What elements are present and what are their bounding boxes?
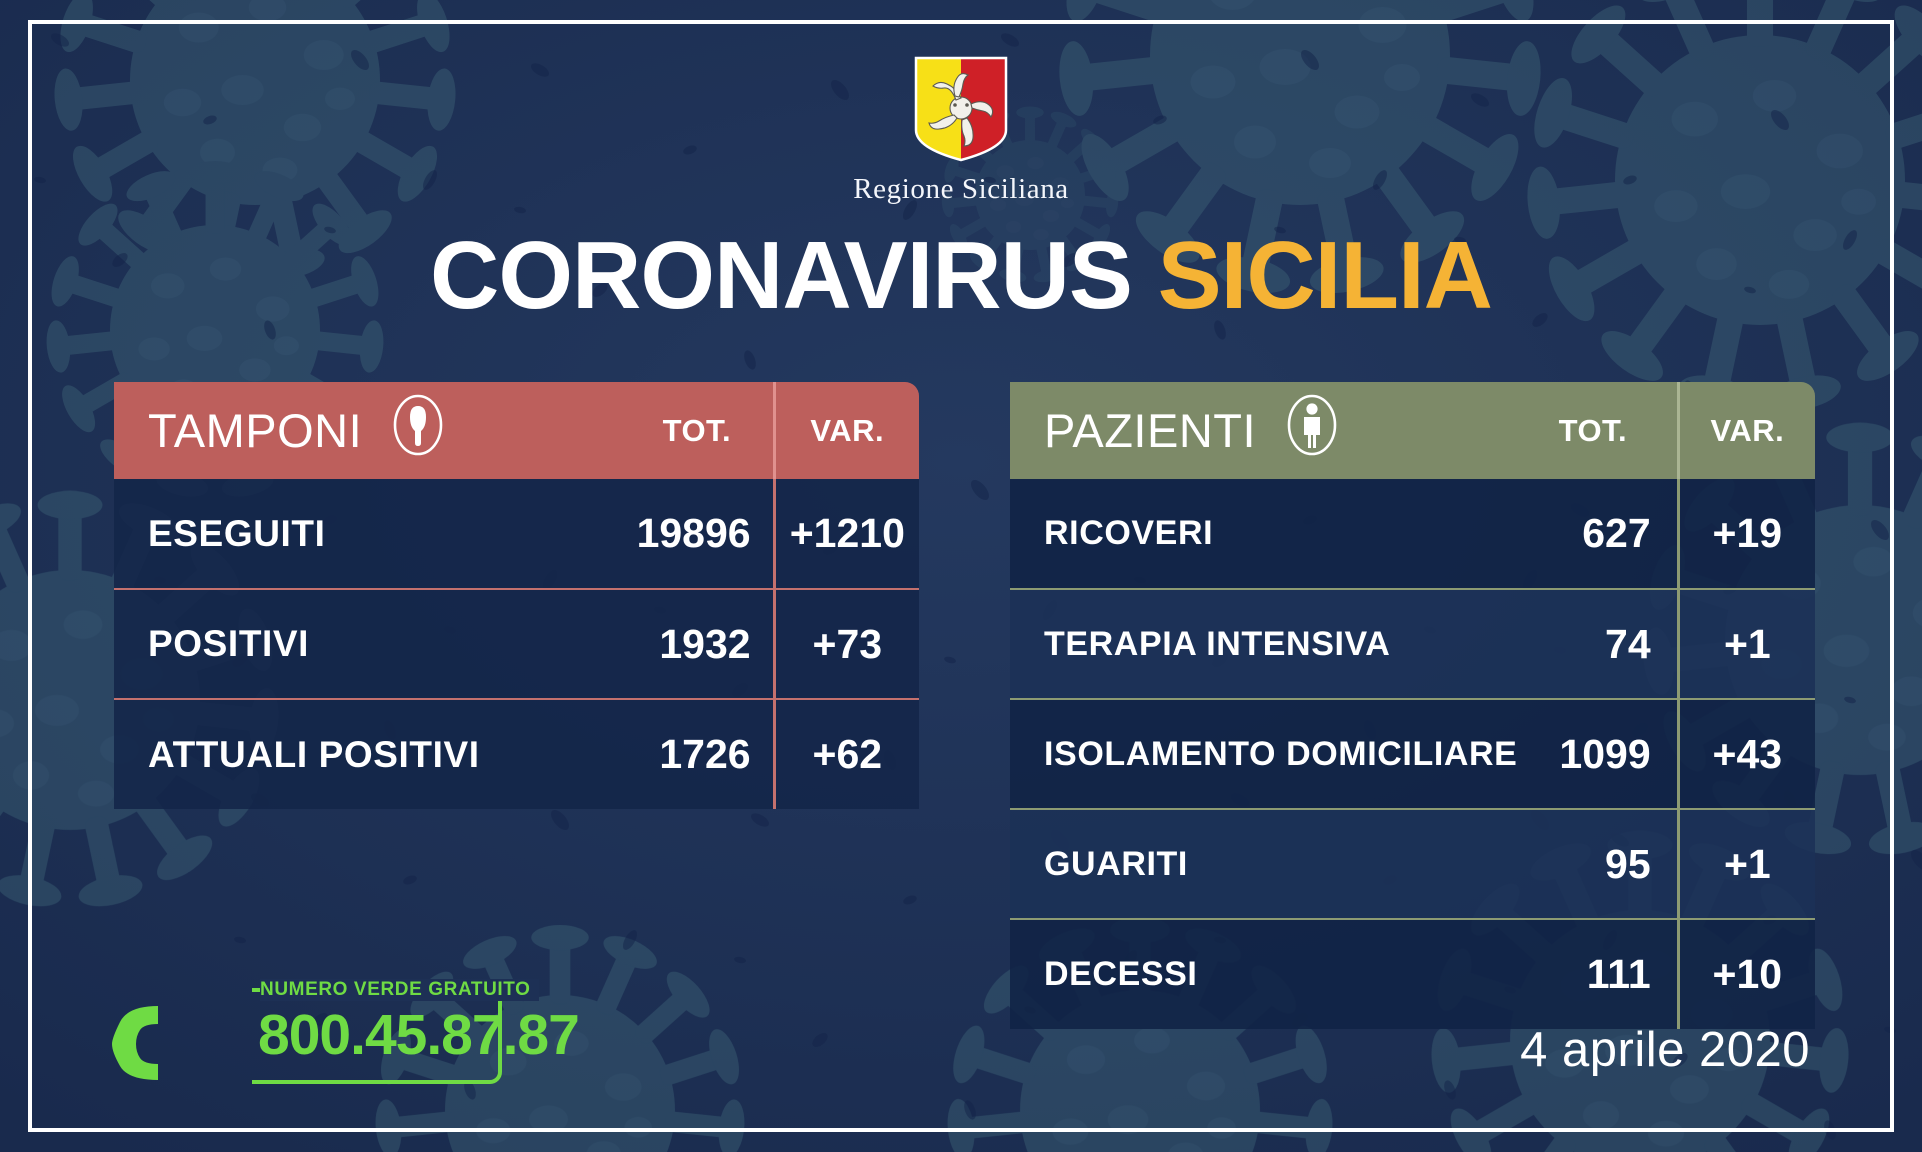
report-date: 4 aprile 2020 — [1520, 1022, 1810, 1078]
title-sicilia: SICILIA — [1158, 222, 1492, 329]
pazienti-table: PAZIENTI TOT. VAR. RICOVERI 627 +1 — [1010, 382, 1815, 1029]
row-total: 19896 — [621, 479, 774, 589]
row-label: GUARITI — [1010, 809, 1509, 919]
row-total: 1932 — [621, 589, 774, 699]
person-icon — [1286, 394, 1338, 467]
tamponi-table: TAMPONI TOT. VAR. ESEGUITI 19896 +1210 — [114, 382, 919, 809]
table-row[interactable]: RICOVERI 627 +19 — [1010, 479, 1815, 589]
region-name: Regione Siciliana — [0, 173, 1922, 206]
pazienti-title-cell: PAZIENTI — [1010, 382, 1509, 479]
tamponi-title: TAMPONI — [148, 404, 362, 457]
row-variation: +73 — [774, 589, 919, 699]
table-row[interactable]: TERAPIA INTENSIVA 74 +1 — [1010, 589, 1815, 699]
swab-icon — [392, 394, 444, 467]
row-variation: +43 — [1678, 699, 1815, 809]
row-variation: +1210 — [774, 479, 919, 589]
row-label: RICOVERI — [1010, 479, 1509, 589]
tamponi-body: ESEGUITI 19896 +1210 POSITIVI 1932 +73 A… — [114, 479, 919, 809]
row-total: 1099 — [1509, 699, 1678, 809]
tamponi-col-var: VAR. — [774, 382, 919, 479]
row-variation: +1 — [1678, 589, 1815, 699]
trinacria-crest-icon — [914, 56, 1008, 162]
row-label: TERAPIA INTENSIVA — [1010, 589, 1509, 699]
tamponi-header-row: TAMPONI TOT. VAR. — [114, 382, 919, 479]
tamponi-title-cell: TAMPONI — [114, 382, 621, 479]
pazienti-col-tot: TOT. — [1509, 382, 1678, 479]
hotline-caption: NUMERO VERDE GRATUITO — [260, 979, 539, 1001]
phone-icon — [112, 1002, 166, 1087]
tamponi-col-tot: TOT. — [621, 382, 774, 479]
row-total: 111 — [1509, 919, 1678, 1029]
row-label: ATTUALI POSITIVI — [114, 699, 621, 809]
hotline-number[interactable]: 800.45.87.87 — [258, 1002, 579, 1068]
pazienti-header-row: PAZIENTI TOT. VAR. — [1010, 382, 1815, 479]
row-total: 627 — [1509, 479, 1678, 589]
row-variation: +10 — [1678, 919, 1815, 1029]
pazienti-table-block: PAZIENTI TOT. VAR. RICOVERI 627 +1 — [1010, 382, 1815, 1029]
table-row[interactable]: POSITIVI 1932 +73 — [114, 589, 919, 699]
row-total: 1726 — [621, 699, 774, 809]
table-row[interactable]: ATTUALI POSITIVI 1726 +62 — [114, 699, 919, 809]
pazienti-title: PAZIENTI — [1044, 404, 1256, 457]
row-label: DECESSI — [1010, 919, 1509, 1029]
row-total: 95 — [1509, 809, 1678, 919]
title-coronavirus: CORONAVIRUS — [430, 222, 1132, 329]
tamponi-table-block: TAMPONI TOT. VAR. ESEGUITI 19896 +1210 — [114, 382, 919, 809]
row-label: POSITIVI — [114, 589, 621, 699]
table-row[interactable]: ISOLAMENTO DOMICILIARE 1099 +43 — [1010, 699, 1815, 809]
table-row[interactable]: DECESSI 111 +10 — [1010, 919, 1815, 1029]
hotline-badge[interactable]: NUMERO VERDE GRATUITO 800.45.87.87 — [112, 988, 512, 1088]
table-row[interactable]: ESEGUITI 19896 +1210 — [114, 479, 919, 589]
row-total: 74 — [1509, 589, 1678, 699]
page-title: CORONAVIRUS SICILIA — [0, 228, 1922, 324]
crest-svg — [914, 56, 1008, 162]
header: Regione Siciliana CORONAVIRUS SICILIA — [0, 0, 1922, 324]
row-label: ESEGUITI — [114, 479, 621, 589]
row-variation: +19 — [1678, 479, 1815, 589]
row-variation: +1 — [1678, 809, 1815, 919]
pazienti-body: RICOVERI 627 +19 TERAPIA INTENSIVA 74 +1… — [1010, 479, 1815, 1029]
pazienti-col-var: VAR. — [1678, 382, 1815, 479]
table-row[interactable]: GUARITI 95 +1 — [1010, 809, 1815, 919]
row-variation: +62 — [774, 699, 919, 809]
row-label: ISOLAMENTO DOMICILIARE — [1010, 699, 1509, 809]
